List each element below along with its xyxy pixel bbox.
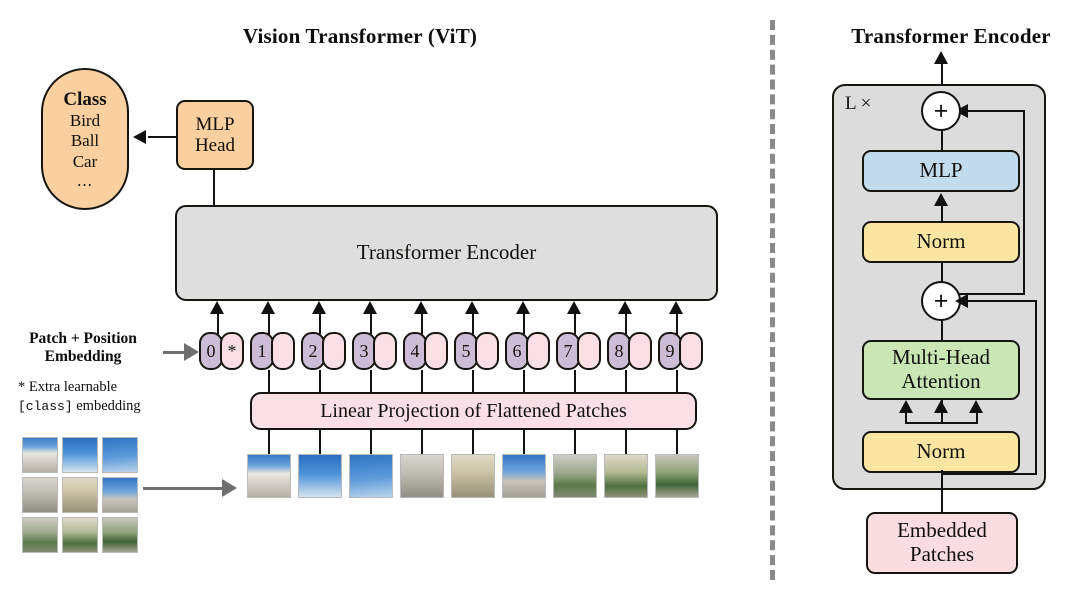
class-item-car: Car bbox=[73, 152, 98, 172]
token-patch-6 bbox=[526, 332, 550, 370]
normtop-to-mlp-arrowhead bbox=[934, 193, 948, 206]
token-patch-8 bbox=[628, 332, 652, 370]
linear-projection-box: Linear Projection of Flattened Patches bbox=[250, 392, 697, 430]
patch-tile-8 bbox=[604, 454, 648, 498]
token-patch-3 bbox=[373, 332, 397, 370]
class-item-bird: Bird bbox=[70, 111, 100, 131]
mlp-block-label: MLP bbox=[919, 159, 962, 183]
panel-divider bbox=[770, 20, 775, 580]
plus-symbol-attention: + bbox=[934, 289, 949, 314]
right-panel-title: Transformer Encoder bbox=[826, 24, 1076, 49]
patch-tile-4 bbox=[400, 454, 444, 498]
patch-tile-3 bbox=[349, 454, 393, 498]
embedded-patches-block: Embedded Patches bbox=[866, 512, 1018, 574]
embedding-label-line2: Embedding bbox=[8, 348, 158, 366]
class-items-ellipsis: ... bbox=[77, 172, 93, 189]
source-grid-tile-3 bbox=[102, 437, 138, 473]
token-patch-4 bbox=[424, 332, 448, 370]
patch-tile-2 bbox=[298, 454, 342, 498]
patch-tile-6 bbox=[502, 454, 546, 498]
encoder-output-line bbox=[941, 62, 943, 84]
embedding-label-arrow-line bbox=[163, 351, 185, 354]
residual-path-mlp-vertical bbox=[1023, 110, 1025, 295]
attention-line1: Multi-Head bbox=[892, 346, 990, 370]
attention-to-plus-line bbox=[941, 320, 943, 342]
residual-path-attn-vertical bbox=[1035, 300, 1037, 475]
mlp-block: MLP bbox=[862, 150, 1020, 192]
source-grid-tile-4 bbox=[22, 477, 58, 513]
embedding-label-arrowhead bbox=[184, 343, 199, 361]
norm-top-block: Norm bbox=[862, 221, 1020, 263]
norm-top-label: Norm bbox=[917, 230, 966, 254]
embedded-patches-line1: Embedded bbox=[897, 519, 987, 543]
mlp-head-line1: MLP bbox=[195, 114, 234, 135]
source-to-patches-arrow-line bbox=[143, 487, 223, 490]
patch-position-embedding-label: Patch + Position Embedding bbox=[8, 330, 158, 367]
patch-tile-1 bbox=[247, 454, 291, 498]
vit-architecture-diagram: Vision Transformer (ViT) Class Bird Ball… bbox=[0, 0, 1080, 593]
residual-add-mlp: + bbox=[921, 91, 961, 131]
linear-projection-label: Linear Projection of Flattened Patches bbox=[320, 400, 627, 422]
footnote-mono-token: [class] bbox=[18, 399, 73, 414]
footnote-line1: * Extra learnable bbox=[18, 378, 178, 397]
mlphead-to-class-arrowhead bbox=[133, 130, 146, 144]
residual-path-mlp-top bbox=[968, 110, 1025, 112]
left-panel-title: Vision Transformer (ViT) bbox=[160, 24, 560, 49]
patch-tile-9 bbox=[655, 454, 699, 498]
class-output-box: Class Bird Ball Car ... bbox=[41, 68, 129, 210]
class-embedding-footnote: * Extra learnable [class] embedding bbox=[18, 378, 178, 416]
transformer-encoder-box: Transformer Encoder bbox=[175, 205, 718, 301]
patch-tile-7 bbox=[553, 454, 597, 498]
mlp-to-plus-line bbox=[941, 131, 943, 152]
residual-attn-arrowhead bbox=[955, 294, 968, 308]
class-item-ball: Ball bbox=[71, 131, 99, 151]
source-grid-tile-1 bbox=[22, 437, 58, 473]
class-box-header: Class bbox=[63, 89, 106, 111]
attention-line2: Attention bbox=[901, 370, 980, 394]
token-patch-2 bbox=[322, 332, 346, 370]
transformer-encoder-label: Transformer Encoder bbox=[357, 241, 536, 265]
token-class-star: * bbox=[220, 332, 244, 370]
token-patch-9 bbox=[679, 332, 703, 370]
token-patch-1 bbox=[271, 332, 295, 370]
source-grid-tile-5 bbox=[62, 477, 98, 513]
embedded-patches-line2: Patches bbox=[910, 543, 974, 567]
encoder-output-arrowhead bbox=[934, 51, 948, 64]
source-grid-tile-9 bbox=[102, 517, 138, 553]
mlp-head-line2: Head bbox=[195, 135, 235, 156]
repeat-count-label: L × bbox=[845, 93, 871, 115]
source-grid-tile-8 bbox=[62, 517, 98, 553]
embedding-label-line1: Patch + Position bbox=[8, 330, 158, 348]
norm-bottom-block: Norm bbox=[862, 431, 1020, 473]
encoder-to-mlphead-line bbox=[213, 170, 215, 208]
source-grid-tile-7 bbox=[22, 517, 58, 553]
footnote-line2: embedding bbox=[73, 398, 141, 414]
mlp-head-box: MLP Head bbox=[176, 100, 254, 170]
source-grid-tile-2 bbox=[62, 437, 98, 473]
residual-path-attn-bottom bbox=[941, 473, 1037, 475]
norm-bottom-label: Norm bbox=[917, 440, 966, 464]
token-patch-5 bbox=[475, 332, 499, 370]
token-patch-7 bbox=[577, 332, 601, 370]
source-to-patches-arrowhead bbox=[222, 479, 237, 497]
patch-tile-5 bbox=[451, 454, 495, 498]
source-grid-tile-6 bbox=[102, 477, 138, 513]
multihead-attention-block: Multi-Head Attention bbox=[862, 340, 1020, 400]
mlphead-to-class-line bbox=[148, 136, 178, 138]
residual-path-attn-top bbox=[968, 300, 1037, 302]
plus-symbol-mlp: + bbox=[934, 99, 949, 124]
